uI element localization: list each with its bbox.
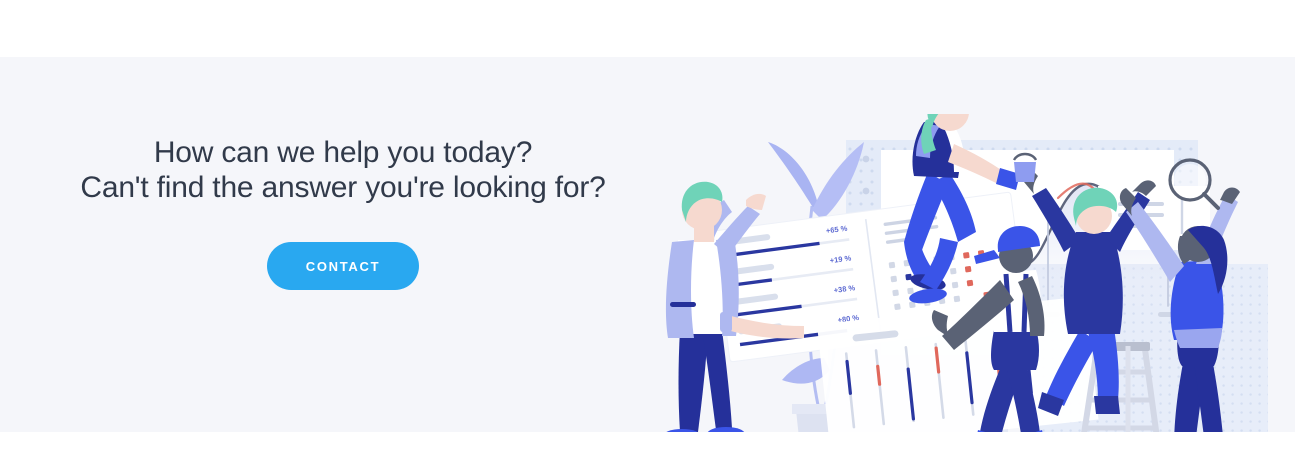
page-root: +65 % +19 % +38 % — [0, 0, 1295, 474]
page-title: How can we help you today? Can't find th… — [60, 135, 626, 205]
cta-wrapper: CONTACT — [60, 242, 626, 290]
teamwork-analytics-illustration: +65 % +19 % +38 % — [628, 114, 1295, 432]
hero-text-column: How can we help you today? Can't find th… — [60, 135, 626, 290]
hero-band: +65 % +19 % +38 % — [0, 57, 1295, 432]
contact-button[interactable]: CONTACT — [267, 242, 419, 290]
